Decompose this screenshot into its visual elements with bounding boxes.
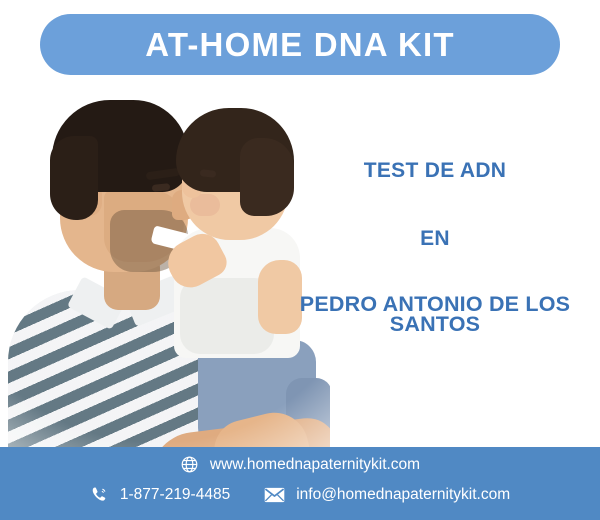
headline-line-preposition: EN [272, 228, 598, 249]
contact-footer: www.homednapaternitykit.com 1-877-219-44… [0, 447, 600, 520]
email-contact[interactable]: info@homednapaternitykit.com [264, 486, 510, 504]
promo-card: AT-HOME DNA KIT [0, 0, 600, 520]
phone-icon [90, 485, 109, 504]
page-title: AT-HOME DNA KIT [145, 28, 454, 61]
headline-block: TEST DE ADN EN PEDRO ANTONIO DE LOS SANT… [272, 160, 598, 335]
email-text[interactable]: info@homednapaternitykit.com [296, 486, 510, 504]
man-hair-side [50, 136, 98, 220]
headline-line-location: PEDRO ANTONIO DE LOS SANTOS [272, 294, 598, 335]
phone-number-text[interactable]: 1-877-219-4485 [120, 486, 230, 504]
phone-contact[interactable]: 1-877-219-4485 [90, 485, 230, 504]
website-text[interactable]: www.homednapaternitykit.com [210, 456, 420, 474]
headline-line-service: TEST DE ADN [272, 160, 598, 181]
footer-contact-row: 1-877-219-4485 info@homednapaternitykit.… [0, 485, 600, 504]
globe-icon [180, 455, 199, 474]
footer-website-row: www.homednapaternitykit.com [0, 455, 600, 474]
envelope-icon [264, 487, 285, 503]
header-banner: AT-HOME DNA KIT [40, 14, 560, 75]
